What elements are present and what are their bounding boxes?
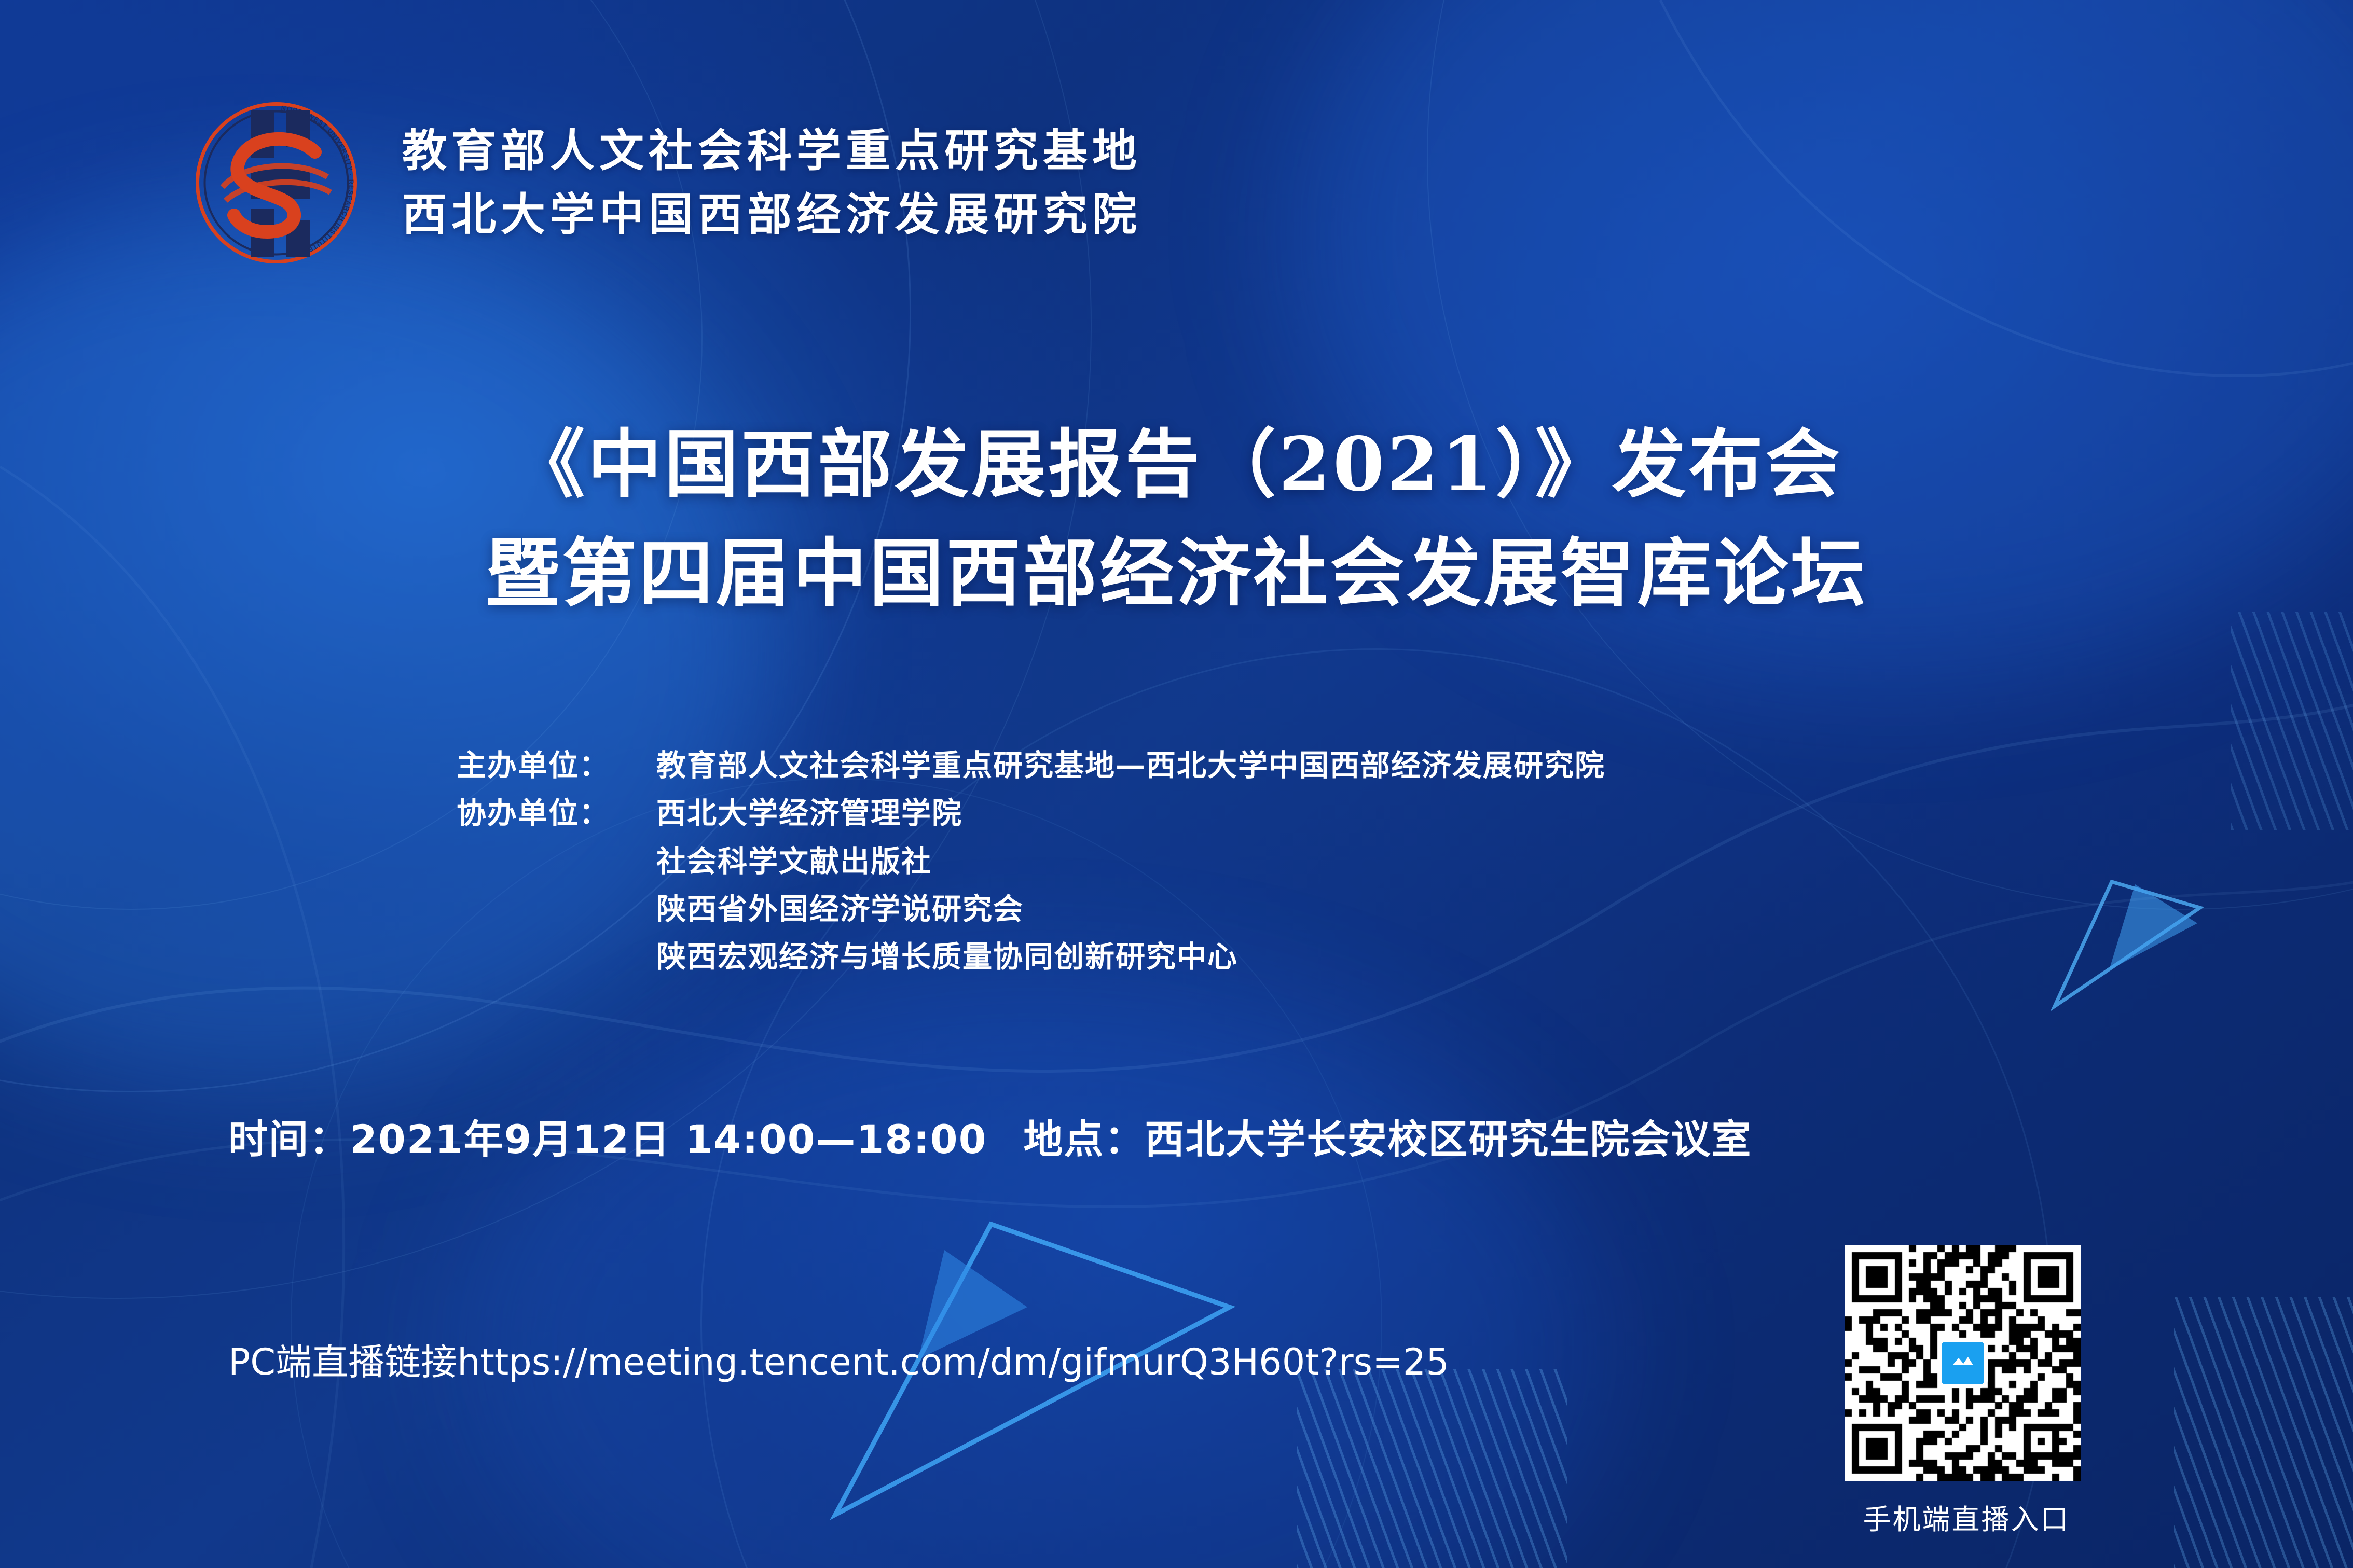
institute-title-block: 教育部人文社会科学重点研究基地 西北大学中国西部经济发展研究院	[402, 119, 1141, 246]
hatch-bottom-left	[1297, 1369, 1567, 1568]
coorganizer-value-3: 陕西省外国经济学说研究会	[656, 885, 1024, 933]
host-label: 主办单位：	[457, 742, 656, 789]
place-label: 地点：	[1023, 1116, 1145, 1162]
coorganizer-row-1: 协办单位： 西北大学经济管理学院	[457, 789, 1605, 837]
qr-code[interactable]	[1845, 1245, 2081, 1481]
live-stream-link[interactable]: PC端直播链接https://meeting.tencent.com/dm/gi…	[228, 1333, 1449, 1385]
organizers-block: 主办单位： 教育部人文社会科学重点研究基地—西北大学中国西部经济发展研究院 协办…	[457, 742, 1605, 981]
triangle-filled-right	[2107, 882, 2200, 975]
main-title-line2: 暨第四届中国西部经济社会发展智库论坛	[0, 519, 2353, 628]
poster-canvas: NORTHWEST UNIVERSITY · RESEARCH INSTITUT…	[0, 0, 2353, 1568]
coorganizer-row-4: 陕西宏观经济与增长质量协同创新研究中心	[457, 933, 1605, 981]
coorganizer-value-2: 社会科学文献出版社	[656, 838, 932, 885]
time-label: 时间：	[228, 1116, 350, 1162]
coorganizer-row-3: 陕西省外国经济学说研究会	[457, 885, 1605, 933]
time-value: 2021年9月12日 14:00—18:00	[350, 1116, 987, 1162]
coorganizer-value-1: 西北大学经济管理学院	[656, 789, 962, 837]
mobile-live-qr-block: 手机端直播入口	[1845, 1245, 2088, 1537]
institute-title-line1: 教育部人文社会科学重点研究基地	[402, 119, 1141, 183]
coorganizer-row-2: 社会科学文献出版社	[457, 838, 1605, 885]
glow-blob-bottom	[467, 986, 1608, 1568]
qr-center-logo	[1938, 1338, 1988, 1388]
triangle-outline-small	[2049, 877, 2205, 1011]
institute-title-line2: 西北大学中国西部经济发展研究院	[402, 183, 1141, 246]
hatch-bottom-right	[2174, 1297, 2353, 1568]
institute-header: NORTHWEST UNIVERSITY · RESEARCH INSTITUT…	[184, 91, 1141, 275]
host-row: 主办单位： 教育部人文社会科学重点研究基地—西北大学中国西部经济发展研究院	[457, 742, 1605, 789]
coorganizer-label: 协办单位：	[457, 789, 656, 837]
tencent-meeting-icon	[1949, 1350, 1976, 1377]
page-title: 《中国西部发展报告（2021）》发布会 暨第四届中国西部经济社会发展智库论坛	[0, 410, 2353, 628]
institute-logo: NORTHWEST UNIVERSITY · RESEARCH INSTITUT…	[184, 91, 368, 275]
event-time-place: 时间：2021年9月12日 14:00—18:00地点：西北大学长安校区研究生院…	[228, 1107, 1752, 1164]
coorganizer-value-4: 陕西宏观经济与增长质量协同创新研究中心	[656, 933, 1238, 981]
place-value: 西北大学长安校区研究生院会议室	[1145, 1116, 1752, 1162]
host-value: 教育部人文社会科学重点研究基地—西北大学中国西部经济发展研究院	[656, 742, 1605, 789]
main-title-line1: 《中国西部发展报告（2021）》发布会	[0, 410, 2353, 519]
hatch-mid-right	[2231, 612, 2353, 830]
qr-caption: 手机端直播入口	[1845, 1496, 2088, 1537]
